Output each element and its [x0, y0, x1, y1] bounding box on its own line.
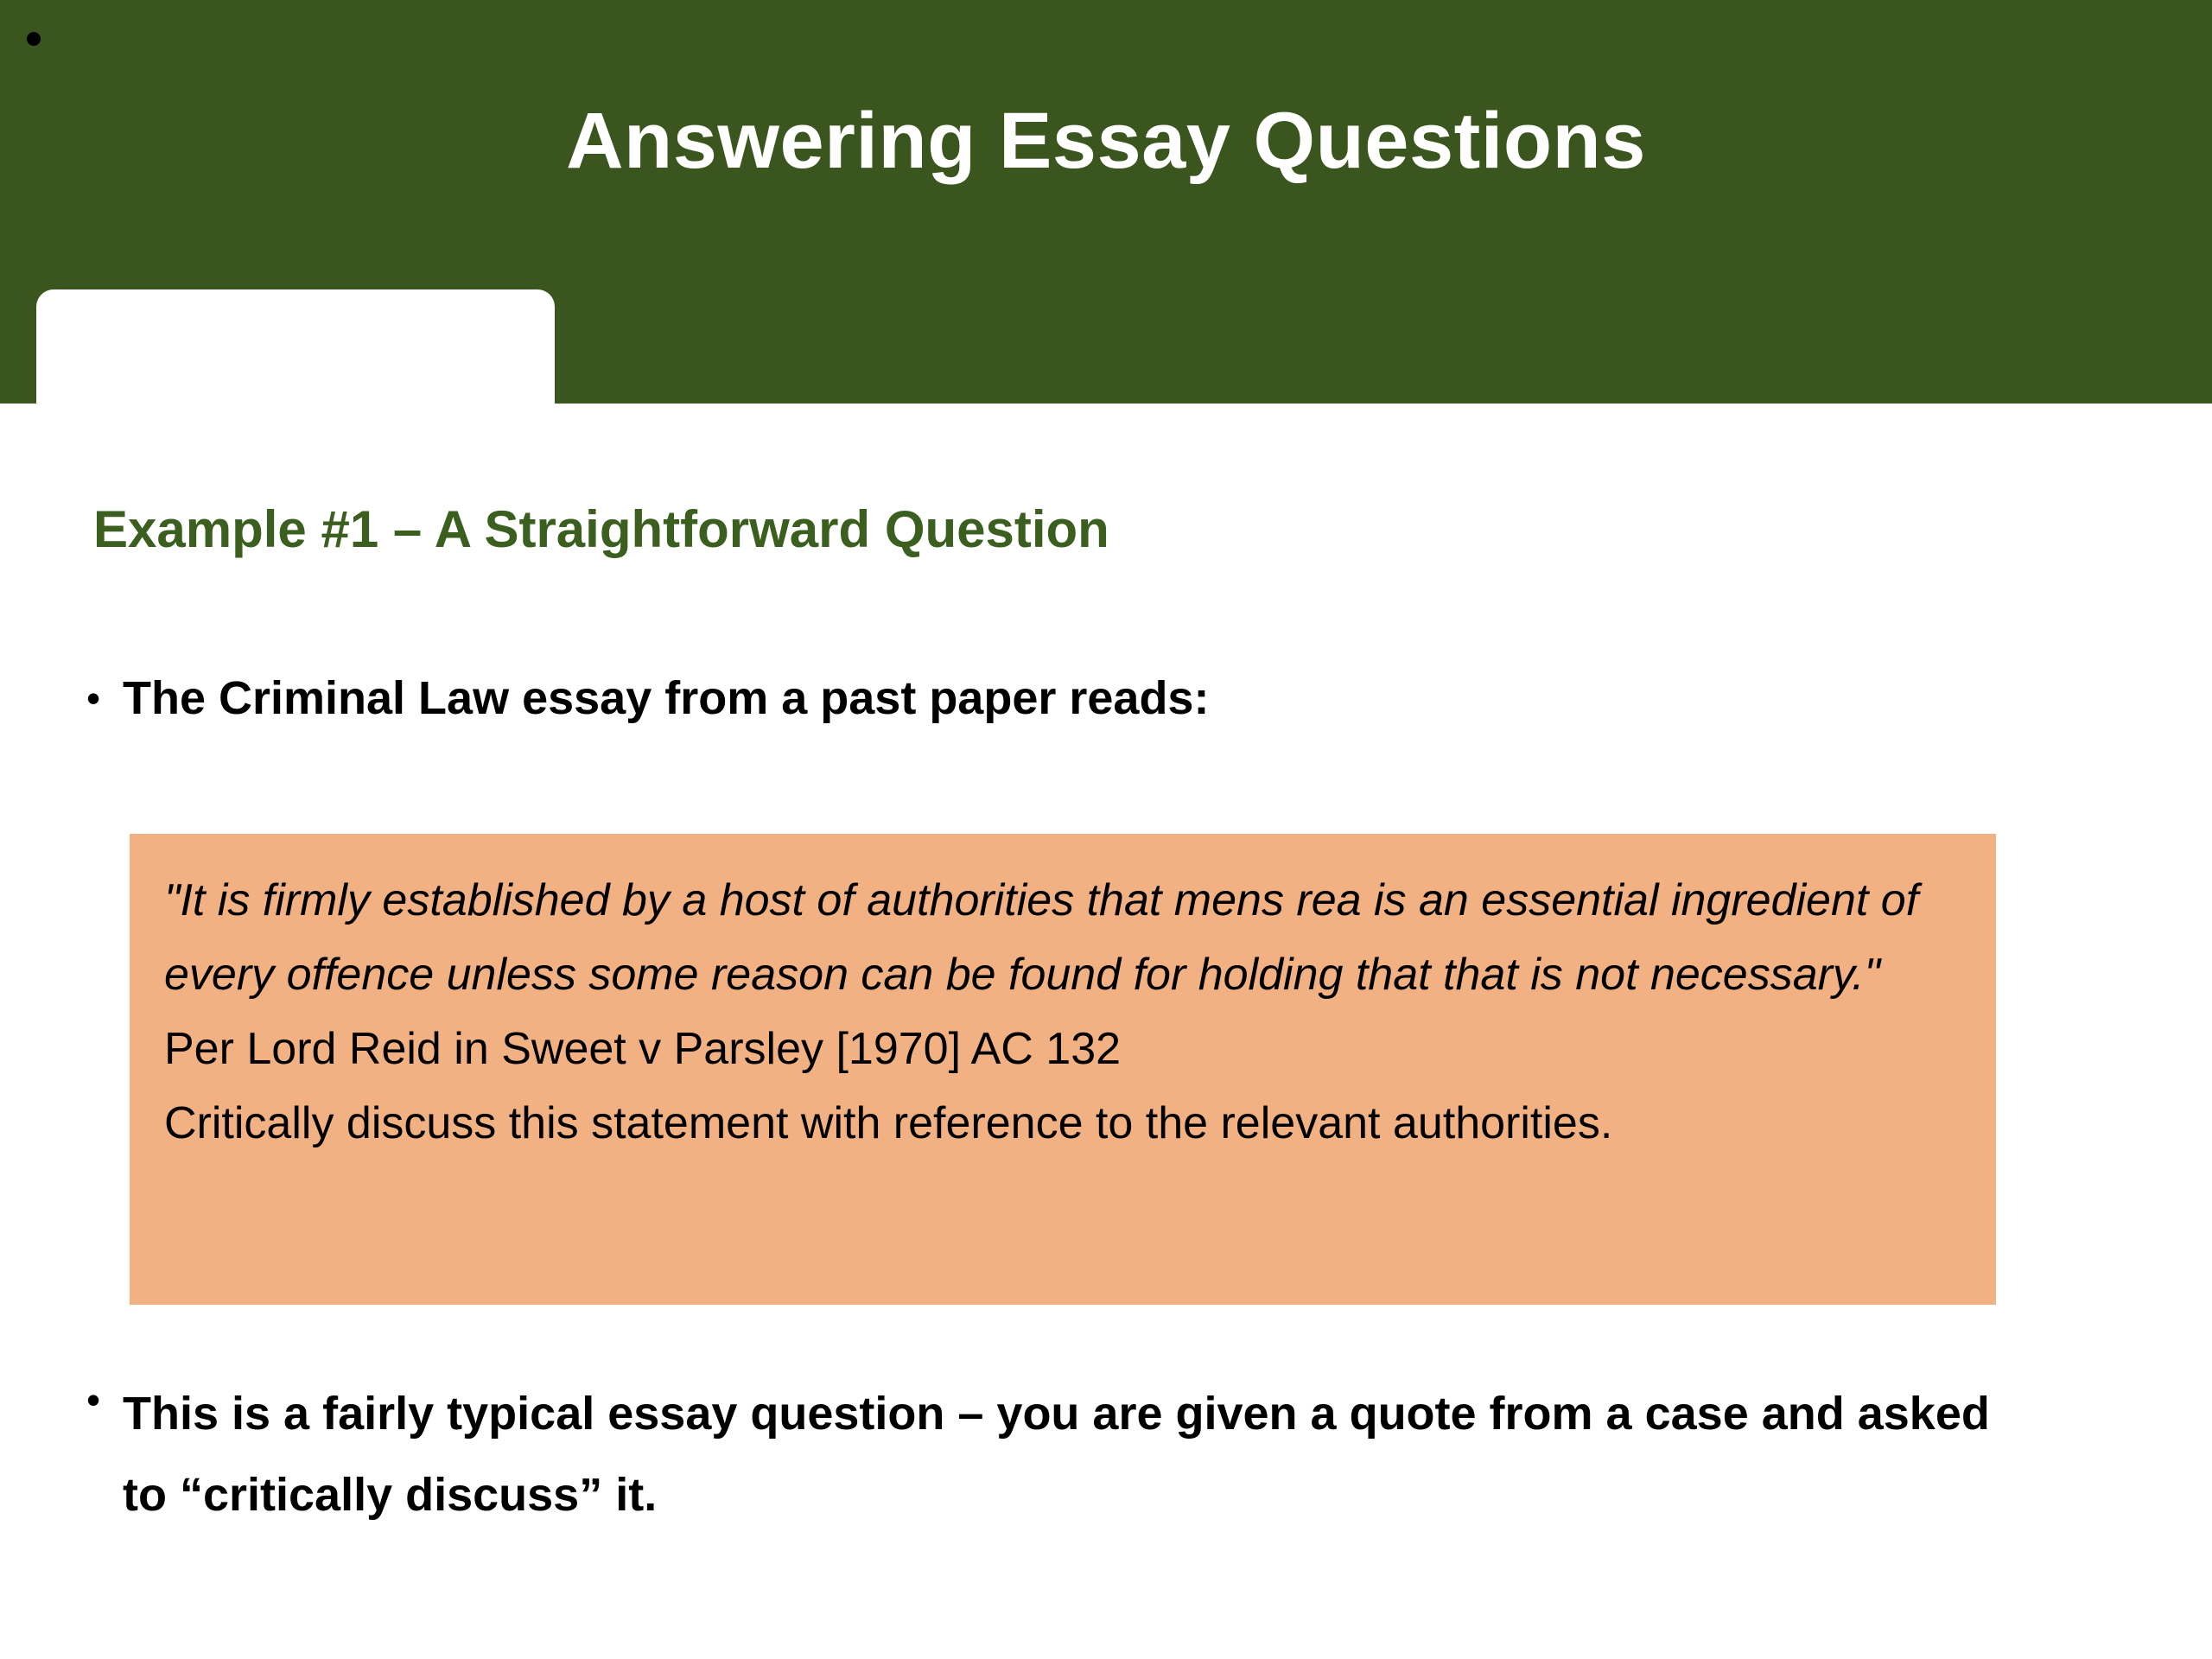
quote-italic-text: "It is firmly established by a host of a…: [164, 875, 1918, 1000]
bullet-text-intro: The Criminal Law essay from a past paper…: [123, 671, 1209, 725]
quote-instruction-text: Critically discuss this statement with r…: [164, 1098, 1612, 1148]
bullet-dot-icon: [27, 32, 41, 46]
bullet-marker-icon: •: [86, 671, 123, 725]
bullet-item-intro: • The Criminal Law essay from a past pap…: [86, 671, 2074, 725]
quote-callout-box: "It is firmly established by a host of a…: [130, 834, 1996, 1305]
slide-header-band: Answering Essay Questions: [0, 0, 2212, 404]
slide-canvas: Answering Essay Questions Example #1 – A…: [0, 0, 2212, 1659]
section-heading: Example #1 – A Straightforward Question: [93, 501, 1109, 558]
quote-citation-text: Per Lord Reid in Sweet v Parsley [1970] …: [164, 1024, 1121, 1074]
bullet-item-summary: • This is a fairly typical essay questio…: [86, 1373, 2039, 1535]
bullet-marker-icon: •: [86, 1373, 123, 1427]
header-tab-shape: [36, 289, 555, 410]
bullet-text-summary: This is a fairly typical essay question …: [123, 1373, 2039, 1535]
page-title: Answering Essay Questions: [0, 99, 2212, 183]
quote-paragraph: "It is firmly established by a host of a…: [164, 863, 1961, 1160]
slide-body: Example #1 – A Straightforward Question …: [0, 404, 2212, 1659]
